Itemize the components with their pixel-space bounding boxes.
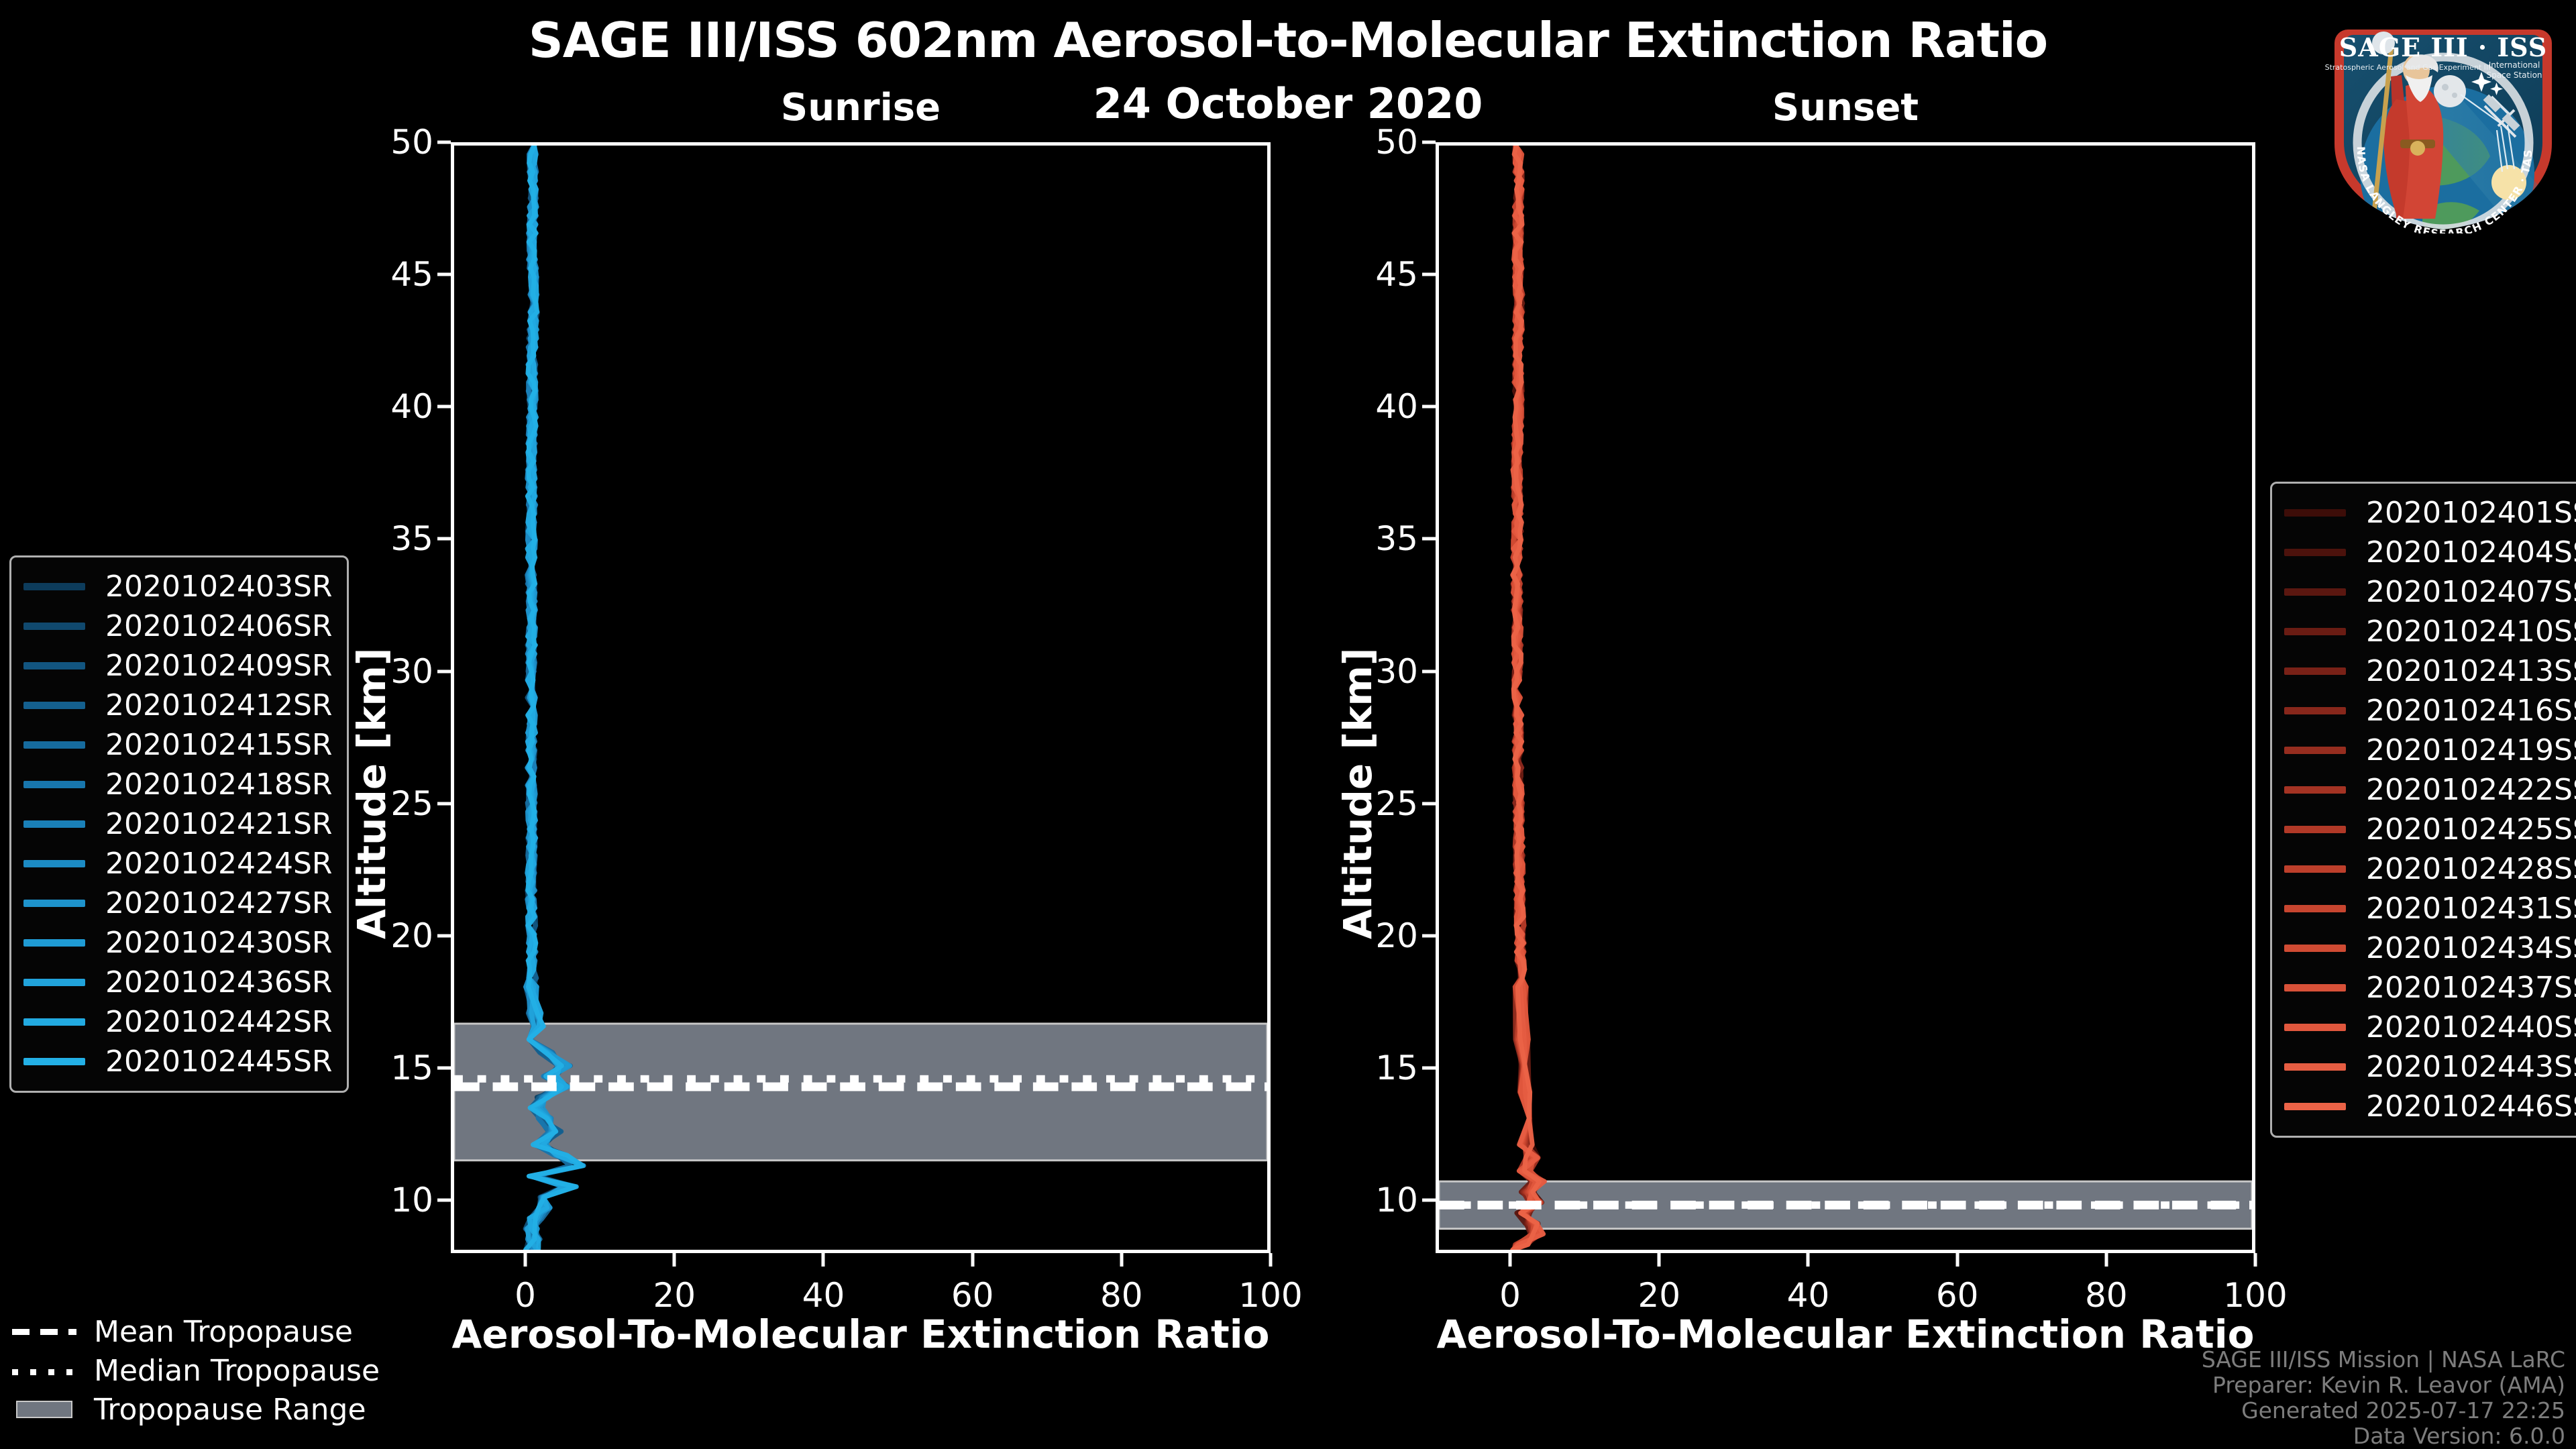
tropopause-range-band-sunrise [454,1024,1267,1161]
footer-line-3: Data Version: 6.0.0 [2202,1424,2565,1449]
legend-color-swatch [23,623,85,630]
legend-color-swatch [23,1018,85,1026]
median-tropopause-swatch [12,1362,76,1379]
legend-item-2020102421SR[interactable]: 2020102421SR [23,804,332,844]
y-tick-label-sunset-6: 40 [1348,387,1418,426]
legend-color-swatch [2284,1063,2346,1071]
legend-item-2020102418SR[interactable]: 2020102418SR [23,765,332,804]
y-tick-mark-sunrise-7 [437,273,451,276]
legend-color-swatch [2284,1103,2346,1110]
y-tick-mark-sunrise-5 [437,537,451,541]
legend-color-swatch [2284,826,2346,833]
x-tick-mark-sunrise-4 [1120,1253,1123,1267]
tropopause-key-label: Mean Tropopause [94,1315,353,1349]
legend-item-label: 2020102434SS [2366,931,2576,965]
logo-subtitle-right-2: Space Station [2486,70,2542,80]
legend-item-2020102446SS[interactable]: 2020102446SS [2284,1087,2576,1126]
legend-color-swatch [2284,984,2346,991]
tropopause-range-swatch [12,1401,76,1418]
legend-color-swatch [2284,865,2346,873]
legend-item-2020102445SR[interactable]: 2020102445SR [23,1042,332,1081]
y-tick-label-sunrise-6: 40 [364,387,433,426]
legend-color-swatch [23,781,85,788]
x-tick-label-sunrise-2: 40 [802,1276,845,1315]
legend-item-2020102401SS[interactable]: 2020102401SS [2284,493,2576,533]
legend-color-swatch [2284,628,2346,635]
x-tick-mark-sunset-2 [1807,1253,1810,1267]
tropopause-key-label: Tropopause Range [94,1393,366,1427]
legend-item-label: 2020102409SR [105,649,332,683]
legend-color-swatch [2284,588,2346,596]
legend-color-swatch [23,583,85,590]
y-tick-label-sunrise-1: 15 [364,1049,433,1087]
x-tick-label-sunrise-3: 60 [951,1276,994,1315]
legend-item-label: 2020102442SR [105,1005,332,1039]
legend-color-swatch [2284,549,2346,556]
legend-item-label: 2020102401SS [2366,496,2576,530]
footer-credits: SAGE III/ISS Mission | NASA LaRCPreparer… [2202,1347,2565,1449]
legend-item-2020102415SR[interactable]: 2020102415SR [23,725,332,765]
tropopause-key-item-band: Tropopause Range [12,1393,380,1426]
legend-item-label: 2020102407SS [2366,575,2576,609]
y-axis-label-sunrise: Altitude [km] [349,648,394,939]
legend-sunrise-events[interactable]: 2020102403SR2020102406SR2020102409SR2020… [9,555,349,1093]
legend-item-label: 2020102422SS [2366,773,2576,807]
legend-color-swatch [23,860,85,867]
page-title: SAGE III/ISS 602nm Aerosol-to-Molecular … [0,12,2576,68]
legend-item-2020102437SS[interactable]: 2020102437SS [2284,968,2576,1008]
y-tick-label-sunset-5: 35 [1348,519,1418,558]
x-tick-label-sunset-0: 0 [1499,1276,1521,1315]
legend-item-label: 2020102445SR [105,1044,332,1079]
legend-item-label: 2020102403SR [105,570,332,604]
legend-tropopause-key: Mean TropopauseMedian TropopauseTropopau… [12,1315,380,1432]
legend-item-label: 2020102443SS [2366,1050,2576,1084]
y-tick-label-sunset-0: 10 [1348,1181,1418,1220]
y-tick-label-sunset-8: 50 [1348,123,1418,162]
legend-item-label: 2020102406SR [105,609,332,643]
legend-item-2020102422SS[interactable]: 2020102422SS [2284,770,2576,810]
legend-item-2020102424SR[interactable]: 2020102424SR [23,844,332,883]
x-tick-label-sunset-1: 20 [1638,1276,1680,1315]
legend-item-label: 2020102430SR [105,926,332,960]
legend-item-label: 2020102416SS [2366,694,2576,728]
footer-line-2: Generated 2025-07-17 22:25 [2202,1398,2565,1424]
y-tick-mark-sunrise-4 [437,669,451,673]
y-tick-mark-sunset-7 [1422,273,1436,276]
legend-color-swatch [2284,667,2346,675]
y-tick-mark-sunset-3 [1422,802,1436,805]
x-tick-label-sunset-3: 60 [1936,1276,1979,1315]
legend-item-2020102403SR[interactable]: 2020102403SR [23,567,332,606]
y-tick-label-sunrise-0: 10 [364,1181,433,1220]
y-tick-mark-sunset-8 [1422,141,1436,144]
legend-item-label: 2020102419SS [2366,733,2576,767]
y-tick-mark-sunset-4 [1422,669,1436,673]
x-tick-mark-sunrise-1 [673,1253,676,1267]
logo-subtitle-left: Stratospheric Aerosol and Gas Experiment… [2325,63,2491,72]
footer-line-1: Preparer: Kevin R. Leavor (AMA) [2202,1373,2565,1398]
legend-color-swatch [2284,707,2346,714]
legend-item-2020102410SS[interactable]: 2020102410SS [2284,612,2576,651]
y-tick-mark-sunrise-8 [437,141,451,144]
mean-tropopause-swatch [12,1323,76,1340]
x-tick-mark-sunrise-2 [822,1253,825,1267]
legend-color-swatch [2284,945,2346,952]
legend-item-2020102430SR[interactable]: 2020102430SR [23,923,332,963]
legend-color-swatch [2284,1024,2346,1031]
legend-item-2020102436SR[interactable]: 2020102436SR [23,963,332,1002]
logo-title: SAGE III · ISS [2339,32,2547,62]
x-tick-mark-sunrise-5 [1269,1253,1273,1267]
legend-item-label: 2020102421SR [105,807,332,841]
x-tick-label-sunrise-0: 0 [515,1276,536,1315]
y-tick-label-sunset-7: 45 [1348,255,1418,294]
y-tick-mark-sunset-6 [1422,405,1436,409]
legend-item-label: 2020102425SS [2366,812,2576,847]
tropopause-key-label: Median Tropopause [94,1354,380,1388]
x-tick-label-sunset-5: 100 [2223,1276,2287,1315]
legend-item-2020102406SR[interactable]: 2020102406SR [23,606,332,646]
legend-color-swatch [23,741,85,749]
y-axis-label-sunset: Altitude [km] [1335,648,1381,939]
legend-color-swatch [2284,509,2346,517]
panel-title-sunrise: Sunrise [451,86,1271,129]
legend-item-label: 2020102437SS [2366,971,2576,1005]
legend-item-label: 2020102413SS [2366,654,2576,688]
legend-item-label: 2020102440SS [2366,1010,2576,1044]
y-tick-label-sunrise-8: 50 [364,123,433,162]
legend-item-2020102428SS[interactable]: 2020102428SS [2284,849,2576,889]
y-tick-mark-sunrise-3 [437,802,451,805]
y-tick-label-sunrise-5: 35 [364,519,433,558]
y-tick-mark-sunrise-0 [437,1199,451,1202]
legend-color-swatch [2284,747,2346,754]
legend-color-swatch [23,662,85,669]
legend-color-swatch [23,939,85,947]
x-tick-label-sunset-2: 40 [1787,1276,1830,1315]
x-tick-label-sunrise-5: 100 [1238,1276,1302,1315]
x-tick-mark-sunset-1 [1658,1253,1661,1267]
x-tick-mark-sunset-5 [2254,1253,2257,1267]
legend-color-swatch [23,702,85,709]
legend-item-2020102407SS[interactable]: 2020102407SS [2284,572,2576,612]
legend-item-2020102412SR[interactable]: 2020102412SR [23,686,332,725]
plot-area-sunset [1436,142,2255,1253]
x-tick-mark-sunrise-3 [971,1253,974,1267]
x-tick-mark-sunrise-0 [524,1253,527,1267]
y-tick-mark-sunset-1 [1422,1067,1436,1070]
legend-item-2020102413SS[interactable]: 2020102413SS [2284,651,2576,691]
legend-item-label: 2020102436SR [105,965,332,1000]
legend-item-label: 2020102431SS [2366,892,2576,926]
legend-color-swatch [23,979,85,986]
logo-subtitle-right-1: International [2489,60,2540,70]
legend-item-2020102409SR[interactable]: 2020102409SR [23,646,332,686]
x-tick-label-sunrise-1: 20 [653,1276,696,1315]
plot-area-sunrise [451,142,1271,1253]
footer-line-0: SAGE III/ISS Mission | NASA LaRC [2202,1347,2565,1373]
legend-color-swatch [23,900,85,907]
y-tick-label-sunset-1: 15 [1348,1049,1418,1087]
legend-item-label: 2020102404SS [2366,535,2576,570]
legend-item-2020102440SS[interactable]: 2020102440SS [2284,1008,2576,1047]
y-tick-mark-sunset-5 [1422,537,1436,541]
legend-item-2020102442SR[interactable]: 2020102442SR [23,1002,332,1042]
x-tick-label-sunset-4: 80 [2085,1276,2128,1315]
legend-color-swatch [23,820,85,828]
legend-item-2020102419SS[interactable]: 2020102419SS [2284,731,2576,770]
legend-item-2020102431SS[interactable]: 2020102431SS [2284,889,2576,928]
legend-color-swatch [23,1058,85,1065]
y-tick-label-sunrise-7: 45 [364,255,433,294]
legend-item-2020102427SR[interactable]: 2020102427SR [23,883,332,923]
legend-item-label: 2020102446SS [2366,1089,2576,1124]
tropopause-key-item-dashed: Mean Tropopause [12,1315,380,1348]
legend-item-label: 2020102424SR [105,847,332,881]
tropopause-key-item-dotted: Median Tropopause [12,1354,380,1387]
legend-color-swatch [2284,786,2346,794]
legend-sunset-events[interactable]: 2020102401SS2020102404SS2020102407SS2020… [2270,482,2576,1138]
x-tick-label-sunrise-4: 80 [1100,1276,1143,1315]
y-tick-mark-sunset-2 [1422,934,1436,937]
panel-title-sunset: Sunset [1436,86,2255,129]
y-tick-mark-sunrise-6 [437,405,451,409]
x-axis-label-sunrise: Aerosol-To-Molecular Extinction Ratio [451,1311,1271,1357]
x-tick-mark-sunset-4 [2104,1253,2108,1267]
x-axis-label-sunset: Aerosol-To-Molecular Extinction Ratio [1436,1311,2255,1357]
legend-item-label: 2020102428SS [2366,852,2576,886]
y-tick-mark-sunrise-1 [437,1067,451,1070]
legend-item-label: 2020102415SR [105,728,332,762]
legend-color-swatch [2284,905,2346,912]
legend-item-label: 2020102412SR [105,688,332,722]
legend-item-2020102443SS[interactable]: 2020102443SS [2284,1047,2576,1087]
profile-curves-sunrise [454,146,1267,1250]
x-tick-mark-sunset-3 [1955,1253,1959,1267]
x-tick-mark-sunset-0 [1509,1253,1512,1267]
legend-item-2020102425SS[interactable]: 2020102425SS [2284,810,2576,849]
legend-item-label: 2020102418SR [105,767,332,802]
profile-curves-sunset [1439,146,2252,1250]
legend-item-label: 2020102410SS [2366,614,2576,649]
legend-item-label: 2020102427SR [105,886,332,920]
legend-item-2020102416SS[interactable]: 2020102416SS [2284,691,2576,731]
legend-item-2020102434SS[interactable]: 2020102434SS [2284,928,2576,968]
y-tick-mark-sunrise-2 [437,934,451,937]
sage-iii-iss-logo: SAGE III · ISS Stratospheric Aerosol and… [2316,5,2571,233]
legend-item-2020102404SS[interactable]: 2020102404SS [2284,533,2576,572]
y-tick-mark-sunset-0 [1422,1199,1436,1202]
